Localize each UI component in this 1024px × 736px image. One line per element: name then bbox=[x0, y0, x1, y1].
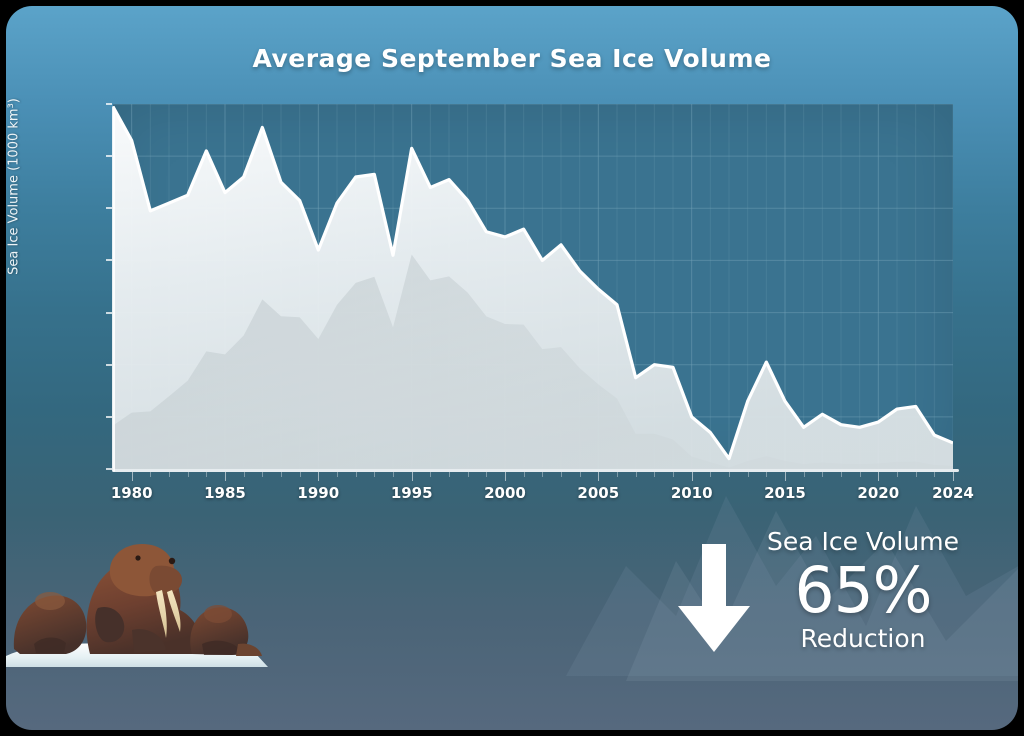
x-tick-mark bbox=[244, 472, 245, 477]
x-axis-line bbox=[113, 469, 959, 472]
y-axis-line bbox=[112, 106, 115, 472]
x-tick-mark bbox=[430, 472, 431, 477]
x-tick-mark bbox=[785, 472, 786, 481]
x-tick-label: 1985 bbox=[180, 484, 270, 502]
x-tick-mark bbox=[262, 472, 263, 477]
x-tick-mark bbox=[804, 472, 805, 477]
x-tick-mark bbox=[337, 472, 338, 477]
x-tick-mark bbox=[841, 472, 842, 477]
x-tick-mark bbox=[356, 472, 357, 477]
y-tick-mark bbox=[106, 416, 112, 418]
x-tick-mark bbox=[729, 472, 730, 477]
x-tick-mark bbox=[524, 472, 525, 477]
x-tick-label: 1980 bbox=[87, 484, 177, 502]
x-tick-mark bbox=[132, 472, 133, 481]
x-tick-label: 2015 bbox=[740, 484, 830, 502]
x-tick-mark bbox=[206, 472, 207, 477]
walrus-photo bbox=[6, 504, 286, 674]
x-tick-label: 2005 bbox=[553, 484, 643, 502]
x-tick-mark bbox=[486, 472, 487, 477]
page-title: Average September Sea Ice Volume bbox=[6, 44, 1018, 73]
x-tick-mark bbox=[150, 472, 151, 477]
stat-text-block: Sea Ice Volume 65% Reduction bbox=[760, 526, 966, 654]
y-tick-mark bbox=[106, 312, 112, 314]
x-tick-mark bbox=[188, 472, 189, 477]
x-tick-mark bbox=[505, 472, 506, 481]
x-tick-mark bbox=[169, 472, 170, 477]
x-tick-mark bbox=[374, 472, 375, 477]
x-tick-mark bbox=[934, 472, 935, 477]
x-tick-mark bbox=[748, 472, 749, 477]
x-tick-label: 2000 bbox=[460, 484, 550, 502]
x-tick-mark bbox=[561, 472, 562, 477]
y-tick-mark bbox=[106, 155, 112, 157]
x-tick-mark bbox=[692, 472, 693, 481]
y-tick-mark bbox=[106, 103, 112, 105]
y-tick-mark bbox=[106, 259, 112, 261]
x-tick-mark bbox=[916, 472, 917, 477]
x-tick-mark bbox=[300, 472, 301, 477]
x-tick-mark bbox=[897, 472, 898, 477]
sea-ice-area-series bbox=[113, 104, 953, 469]
down-arrow-icon bbox=[674, 544, 754, 654]
x-tick-mark bbox=[766, 472, 767, 477]
x-tick-mark bbox=[598, 472, 599, 481]
chart-plot-area bbox=[113, 104, 953, 469]
x-tick-mark bbox=[878, 472, 879, 481]
stat-sub-label: Reduction bbox=[760, 624, 966, 654]
x-tick-mark bbox=[580, 472, 581, 477]
stat-callout: Sea Ice Volume 65% Reduction bbox=[666, 526, 966, 666]
x-tick-mark bbox=[281, 472, 282, 477]
x-tick-mark bbox=[225, 472, 226, 481]
x-tick-mark bbox=[393, 472, 394, 477]
x-tick-mark bbox=[636, 472, 637, 477]
x-tick-label: 1990 bbox=[273, 484, 363, 502]
x-tick-mark bbox=[953, 472, 954, 481]
x-tick-mark bbox=[318, 472, 319, 481]
y-axis-label: Sea Ice Volume (1000 km³) bbox=[7, 6, 22, 387]
infographic-card: Average September Sea Ice Volume Se bbox=[6, 6, 1018, 730]
y-tick-mark bbox=[106, 207, 112, 209]
stat-value: 65% bbox=[760, 558, 966, 624]
x-tick-mark bbox=[449, 472, 450, 477]
x-tick-label: 1995 bbox=[367, 484, 457, 502]
x-tick-mark bbox=[468, 472, 469, 477]
x-tick-mark bbox=[822, 472, 823, 477]
x-tick-label: 2024 bbox=[908, 484, 998, 502]
y-tick-mark bbox=[106, 364, 112, 366]
x-tick-mark bbox=[710, 472, 711, 477]
x-tick-mark bbox=[617, 472, 618, 477]
x-tick-mark bbox=[412, 472, 413, 481]
y-tick-mark bbox=[106, 468, 112, 470]
x-tick-mark bbox=[542, 472, 543, 477]
x-tick-label: 2010 bbox=[647, 484, 737, 502]
x-tick-mark bbox=[673, 472, 674, 477]
x-tick-mark bbox=[860, 472, 861, 477]
x-tick-mark bbox=[654, 472, 655, 477]
